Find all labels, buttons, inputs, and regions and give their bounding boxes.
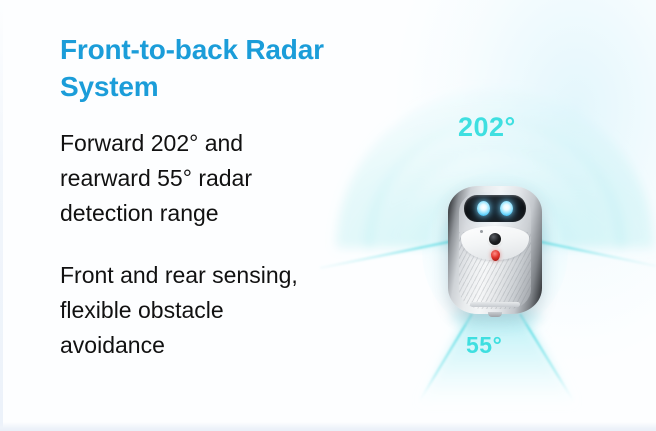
radar-diagram: 202° 55°	[318, 0, 656, 431]
device-shell	[448, 186, 542, 314]
radar-feature-slide: Front-to-back Radar System Forward 202° …	[0, 0, 656, 431]
bottom-edge-strip	[0, 422, 656, 431]
device-eye-right-icon	[500, 201, 513, 216]
device-visor	[464, 195, 526, 222]
device-camera-icon	[489, 233, 501, 245]
background-left-edge	[0, 0, 3, 431]
device-base-slot	[470, 302, 520, 307]
rear-radar-cone	[418, 306, 576, 404]
robot-vacuum-device	[448, 186, 542, 314]
device-base-nub	[488, 312, 502, 317]
device-mic-dot	[480, 230, 483, 233]
device-eye-left-icon	[477, 201, 490, 216]
